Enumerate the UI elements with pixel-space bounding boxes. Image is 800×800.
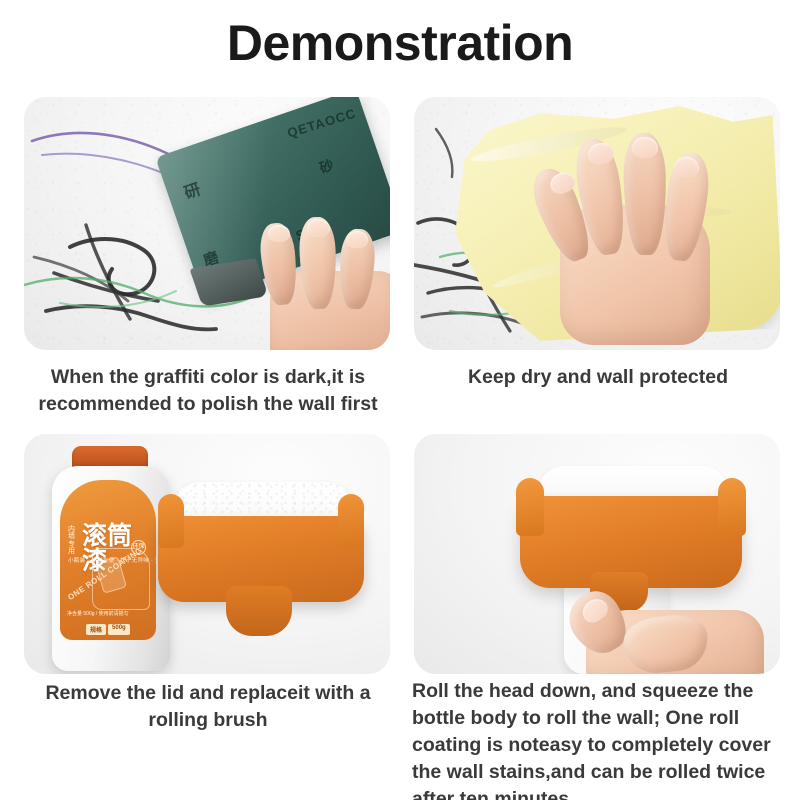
hand-wiping-wall: [534, 127, 744, 342]
weight-badge-label: 规格: [86, 624, 106, 635]
caption-line: Roll the head down, and squeeze the: [412, 678, 788, 705]
roller-stem: [226, 586, 292, 636]
caption-line: Remove the lid and replaceit: [45, 682, 309, 704]
caption-panel-4: Roll the head down, and squeeze the bott…: [412, 678, 788, 800]
page-title: Demonstration: [0, 14, 800, 72]
caption-line: Keep dry and wall protected: [468, 366, 728, 388]
panel-replace-lid-step: 内墙专用 滚筒漆 小瓶装 · 涂刷方便 · 快干无异味 · 遮盖力强 ONE R…: [24, 434, 390, 674]
caption-line: the wall stains,and can be rolled twice: [412, 759, 788, 786]
caption-panel-2: Keep dry and wall protected: [412, 364, 784, 391]
panel-polish-wall-step: QETAOCC 研 磨 8 SHL 砂: [24, 97, 390, 350]
panel-keep-dry-step: [414, 97, 780, 350]
panel-roll-the-wall-step: [414, 434, 780, 674]
caption-line: bottle body to roll the wall; One roll: [412, 705, 788, 732]
roller-lip-right: [718, 478, 746, 536]
label-illustration: [92, 548, 150, 610]
rolling-brush-head: [152, 478, 370, 653]
caption-line: When the graffiti color is dark,it is: [51, 366, 365, 388]
caption-line: coating is noteasy to completely cover: [412, 732, 788, 759]
bottle-label: 内墙专用 滚筒漆 小瓶装 · 涂刷方便 · 快干无异味 · 遮盖力强 ONE R…: [60, 480, 156, 640]
weight-badge-value: 500g: [108, 624, 130, 635]
label-footer-text: 净含量 500g / 使用前请摇匀: [67, 611, 129, 619]
label-eco-badge: 环保: [131, 540, 146, 555]
hand-squeezing-bottle: [566, 586, 766, 674]
roller-lip-right: [338, 494, 364, 548]
caption-line: recommended to polish the wall first: [38, 393, 377, 415]
roller-lip-left: [516, 478, 544, 536]
demonstration-infographic: Demonstration QETAOCC: [0, 0, 800, 800]
caption-panel-3: Remove the lid and replaceit with a roll…: [22, 680, 394, 734]
hand-holding-sponge: [256, 215, 390, 350]
label-weight-badge: 规格 500g: [86, 624, 130, 635]
caption-line: after ten minutes: [412, 786, 788, 800]
roller-lip-left: [158, 494, 184, 548]
label-side-text: 内墙专用: [68, 526, 80, 555]
caption-panel-1: When the graffiti color is dark,it is re…: [22, 364, 394, 418]
